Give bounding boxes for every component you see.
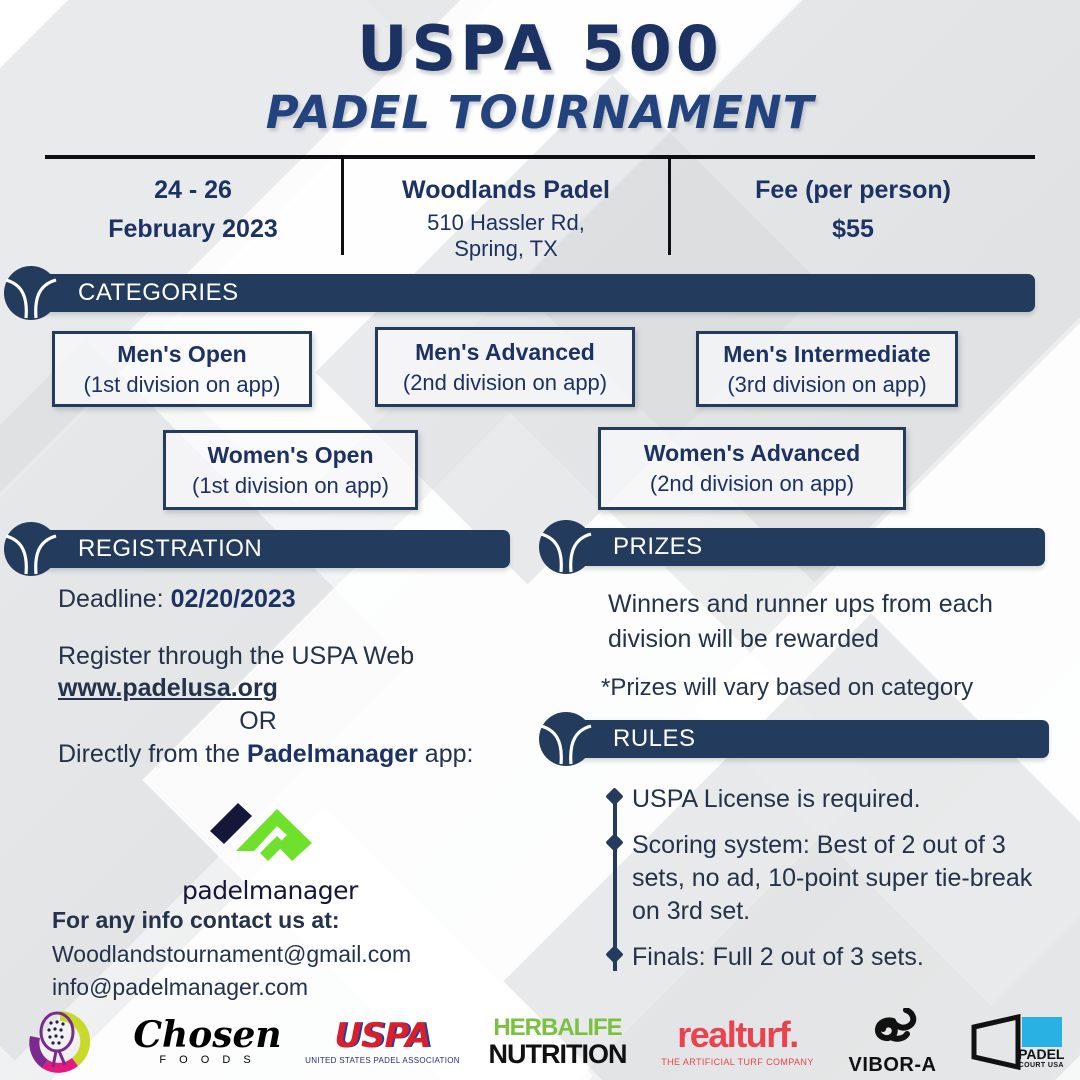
diamond-bullet-icon bbox=[605, 945, 623, 963]
rule-item: Scoring system: Best of 2 out of 3 sets,… bbox=[604, 829, 1054, 928]
info-fee-label: Fee (per person) bbox=[671, 171, 1035, 210]
rule-text: USPA License is required. bbox=[632, 785, 921, 813]
category-card-mens-advanced[interactable]: Men's Advanced (2nd division on app) bbox=[375, 327, 635, 407]
tennis-ball-icon bbox=[537, 710, 595, 768]
padel-court-line2: COURT USA bbox=[1018, 1062, 1064, 1069]
tennis-ball-icon bbox=[2, 264, 60, 322]
registration-website-link[interactable]: www.padelusa.org bbox=[58, 674, 278, 703]
section-bar: PRIZES bbox=[565, 528, 1045, 566]
info-dates: 24 - 26 February 2023 bbox=[45, 159, 341, 255]
category-name: Men's Advanced bbox=[378, 337, 632, 368]
uspa-wordmark: USPA bbox=[334, 1019, 430, 1053]
tennis-ball-icon bbox=[537, 518, 595, 576]
padelmanager-wordmark: padelmanager bbox=[182, 876, 332, 905]
realturf-wordmark: realturf. bbox=[677, 1017, 798, 1053]
rule-text: Scoring system: Best of 2 out of 3 sets,… bbox=[632, 831, 1032, 925]
section-bar: CATEGORIES bbox=[30, 274, 1035, 312]
category-division: (1st division on app) bbox=[166, 471, 415, 501]
vibora-wordmark: VIBOR-A bbox=[849, 1054, 937, 1077]
prizes-note-text: *Prizes will vary based on category bbox=[601, 674, 1038, 702]
chosen-subtext: F O O D S bbox=[159, 1054, 255, 1066]
section-label-registration: REGISTRATION bbox=[78, 535, 262, 563]
info-venue: Woodlands Padel 510 Hassler Rd, Spring, … bbox=[341, 159, 671, 255]
section-label-prizes: PRIZES bbox=[613, 533, 703, 561]
category-division: (2nd division on app) bbox=[601, 469, 903, 499]
herbalife-wordmark: HERBALIFE bbox=[493, 1016, 621, 1040]
section-header-prizes: PRIZES bbox=[537, 528, 1045, 566]
registration-body: Deadline: 02/20/2023 Register through th… bbox=[58, 585, 528, 769]
sponsor-logo-vibora: VIBOR-A bbox=[830, 1004, 955, 1080]
info-fee: Fee (per person) $55 bbox=[671, 159, 1035, 255]
diamond-bullet-icon bbox=[605, 833, 623, 851]
category-division: (3rd division on app) bbox=[699, 370, 955, 400]
prizes-body: Winners and runner ups from each divisio… bbox=[608, 587, 1038, 702]
padel-court-mark-icon: PADEL COURT USA bbox=[970, 1013, 1066, 1071]
info-venue-name: Woodlands Padel bbox=[344, 171, 668, 210]
registration-deadline: Deadline: 02/20/2023 bbox=[58, 585, 528, 614]
tennis-ball-icon bbox=[2, 520, 60, 578]
vibora-snake-icon bbox=[862, 1008, 924, 1052]
app-instruction-post: app: bbox=[418, 740, 474, 768]
category-division: (2nd division on app) bbox=[378, 368, 632, 398]
padel-court-line1: PADEL bbox=[1018, 1047, 1064, 1062]
section-bar: RULES bbox=[565, 720, 1049, 758]
section-header-registration: REGISTRATION bbox=[2, 530, 510, 568]
uspa-subtext: UNITED STATES PADEL ASSOCIATION bbox=[305, 1056, 460, 1065]
sponsor-logo-woodlands-padel bbox=[0, 1004, 120, 1080]
sponsor-logo-herbalife: HERBALIFE NUTRITION bbox=[470, 1004, 645, 1080]
info-dates-days: 24 - 26 bbox=[45, 171, 341, 210]
category-card-womens-advanced[interactable]: Women's Advanced (2nd division on app) bbox=[598, 427, 906, 510]
registration-instruction: Register through the USPA Web bbox=[58, 640, 528, 672]
sponsor-logo-uspa: USPA UNITED STATES PADEL ASSOCIATION bbox=[295, 1004, 470, 1080]
info-venue-city: Spring, TX bbox=[344, 236, 668, 262]
chosen-wordmark: Chosen bbox=[133, 1018, 281, 1052]
diamond-bullet-icon bbox=[605, 787, 623, 805]
category-card-mens-open[interactable]: Men's Open (1st division on app) bbox=[52, 331, 312, 407]
category-division: (1st division on app) bbox=[55, 370, 309, 400]
info-dates-month: February 2023 bbox=[45, 210, 341, 249]
herbalife-subtext: NUTRITION bbox=[489, 1040, 627, 1068]
section-label-rules: RULES bbox=[613, 725, 696, 753]
rule-text: Finals: Full 2 out of 3 sets. bbox=[632, 943, 924, 971]
category-card-womens-open[interactable]: Women's Open (1st division on app) bbox=[163, 430, 418, 510]
rule-item: USPA License is required. bbox=[604, 783, 1054, 816]
info-venue-street: 510 Hassler Rd, bbox=[344, 210, 668, 236]
rule-item: Finals: Full 2 out of 3 sets. bbox=[604, 941, 1054, 974]
category-card-mens-intermediate[interactable]: Men's Intermediate (3rd division on app) bbox=[696, 331, 958, 407]
contact-email-1[interactable]: Woodlandstournament@gmail.com bbox=[52, 938, 411, 971]
registration-or: OR bbox=[58, 707, 458, 736]
deadline-value: 02/20/2023 bbox=[171, 585, 296, 613]
category-name: Women's Open bbox=[166, 440, 415, 471]
app-instruction-pre: Directly from the bbox=[58, 740, 247, 768]
contact-heading: For any info contact us at: bbox=[52, 903, 411, 938]
page-subtitle: PADEL TOURNAMENT bbox=[0, 86, 1080, 139]
realturf-subtext: THE ARTIFICIAL TURF COMPANY bbox=[661, 1057, 813, 1067]
section-header-rules: RULES bbox=[537, 720, 1049, 758]
poster-header: USPA 500 PADEL TOURNAMENT bbox=[0, 18, 1080, 139]
deadline-label: Deadline: bbox=[58, 585, 171, 613]
page-title: USPA 500 bbox=[0, 18, 1080, 80]
sponsor-logo-realturf: realturf. THE ARTIFICIAL TURF COMPANY bbox=[645, 1004, 830, 1080]
section-header-categories: CATEGORIES bbox=[2, 274, 1035, 312]
app-name: Padelmanager bbox=[247, 740, 418, 768]
info-fee-amount: $55 bbox=[671, 210, 1035, 249]
category-name: Men's Intermediate bbox=[699, 339, 955, 370]
padelmanager-logo: padelmanager bbox=[182, 795, 332, 905]
sponsor-logo-padel-court-usa: PADEL COURT USA bbox=[955, 1004, 1080, 1080]
event-info-row: 24 - 26 February 2023 Woodlands Padel 51… bbox=[45, 155, 1035, 255]
section-bar: REGISTRATION bbox=[30, 530, 510, 568]
rules-body: USPA License is required. Scoring system… bbox=[604, 783, 1054, 987]
section-label-categories: CATEGORIES bbox=[78, 279, 239, 307]
padelmanager-mark-icon bbox=[182, 795, 332, 867]
contact-block: For any info contact us at: Woodlandstou… bbox=[52, 903, 411, 1004]
padel-court-wordmark: PADEL COURT USA bbox=[1018, 1047, 1064, 1069]
woodlands-padel-icon bbox=[23, 1005, 97, 1079]
sponsor-bar: Chosen F O O D S USPA UNITED STATES PADE… bbox=[0, 1004, 1080, 1080]
category-name: Men's Open bbox=[55, 339, 309, 370]
sponsor-logo-chosen-foods: Chosen F O O D S bbox=[120, 1004, 295, 1080]
contact-email-2[interactable]: info@padelmanager.com bbox=[52, 971, 411, 1004]
prizes-main-text: Winners and runner ups from each divisio… bbox=[608, 587, 1038, 656]
registration-app-instruction: Directly from the Padelmanager app: bbox=[58, 740, 528, 769]
category-name: Women's Advanced bbox=[601, 438, 903, 469]
